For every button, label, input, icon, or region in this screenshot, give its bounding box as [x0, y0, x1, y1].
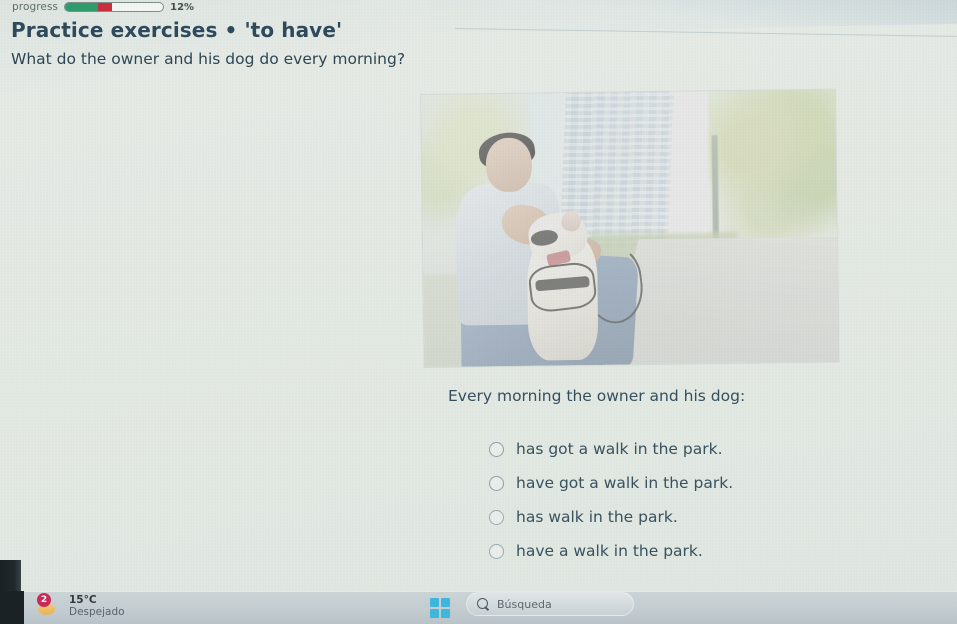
weather-text: 15°C Despejado	[69, 594, 125, 618]
windows-start-icon[interactable]	[430, 598, 450, 618]
progress-label: progress	[12, 1, 58, 13]
answer-option-label: have a walk in the park.	[516, 542, 703, 560]
answer-stem: Every morning the owner and his dog:	[448, 387, 745, 405]
answer-option-4[interactable]: have a walk in the park.	[489, 534, 819, 568]
search-icon	[477, 598, 489, 610]
start-tile-1	[430, 598, 439, 607]
answer-option-label: has got a walk in the park.	[516, 440, 723, 458]
radio-button-icon[interactable]	[489, 510, 504, 525]
answer-option-3[interactable]: has walk in the park.	[489, 500, 819, 534]
photo-scene	[421, 90, 839, 367]
page-surface: progress 12% Practice exercises • 'to ha…	[0, 0, 957, 591]
start-tile-3	[430, 609, 439, 618]
screen-glare-line	[455, 28, 957, 37]
notification-badge: 2	[37, 593, 51, 607]
start-tile-4	[441, 609, 450, 618]
progress-indicator: progress 12%	[12, 0, 194, 14]
weather-widget[interactable]: 2 15°C Despejado	[36, 594, 125, 618]
answer-options: has got a walk in the park. have got a w…	[489, 432, 819, 568]
answer-option-2[interactable]: have got a walk in the park.	[489, 466, 819, 500]
answer-option-label: have got a walk in the park.	[516, 474, 733, 492]
page-title: Practice exercises • 'to have'	[11, 18, 342, 42]
radio-button-icon[interactable]	[489, 544, 504, 559]
search-input[interactable]: Búsqueda	[466, 592, 634, 616]
search-placeholder: Búsqueda	[497, 598, 552, 611]
exercise-photo	[421, 90, 839, 367]
progress-bar-green-segment	[65, 3, 98, 11]
answer-option-1[interactable]: has got a walk in the park.	[489, 432, 819, 466]
monitor-bezel-corner	[0, 591, 24, 624]
progress-bar-red-segment	[98, 3, 112, 11]
sun-icon: 2	[36, 594, 62, 618]
progress-bar-track	[64, 2, 164, 12]
question-prompt: What do the owner and his dog do every m…	[11, 50, 405, 68]
answer-option-label: has walk in the park.	[516, 508, 678, 526]
weather-temperature: 15°C	[69, 594, 125, 606]
progress-percent-text: 12%	[170, 2, 194, 13]
photographed-screen: progress 12% Practice exercises • 'to ha…	[0, 0, 957, 624]
radio-button-icon[interactable]	[489, 476, 504, 491]
radio-button-icon[interactable]	[489, 442, 504, 457]
start-tile-2	[441, 598, 450, 607]
photo-glare-veil	[421, 90, 839, 367]
weather-condition: Despejado	[69, 606, 125, 618]
